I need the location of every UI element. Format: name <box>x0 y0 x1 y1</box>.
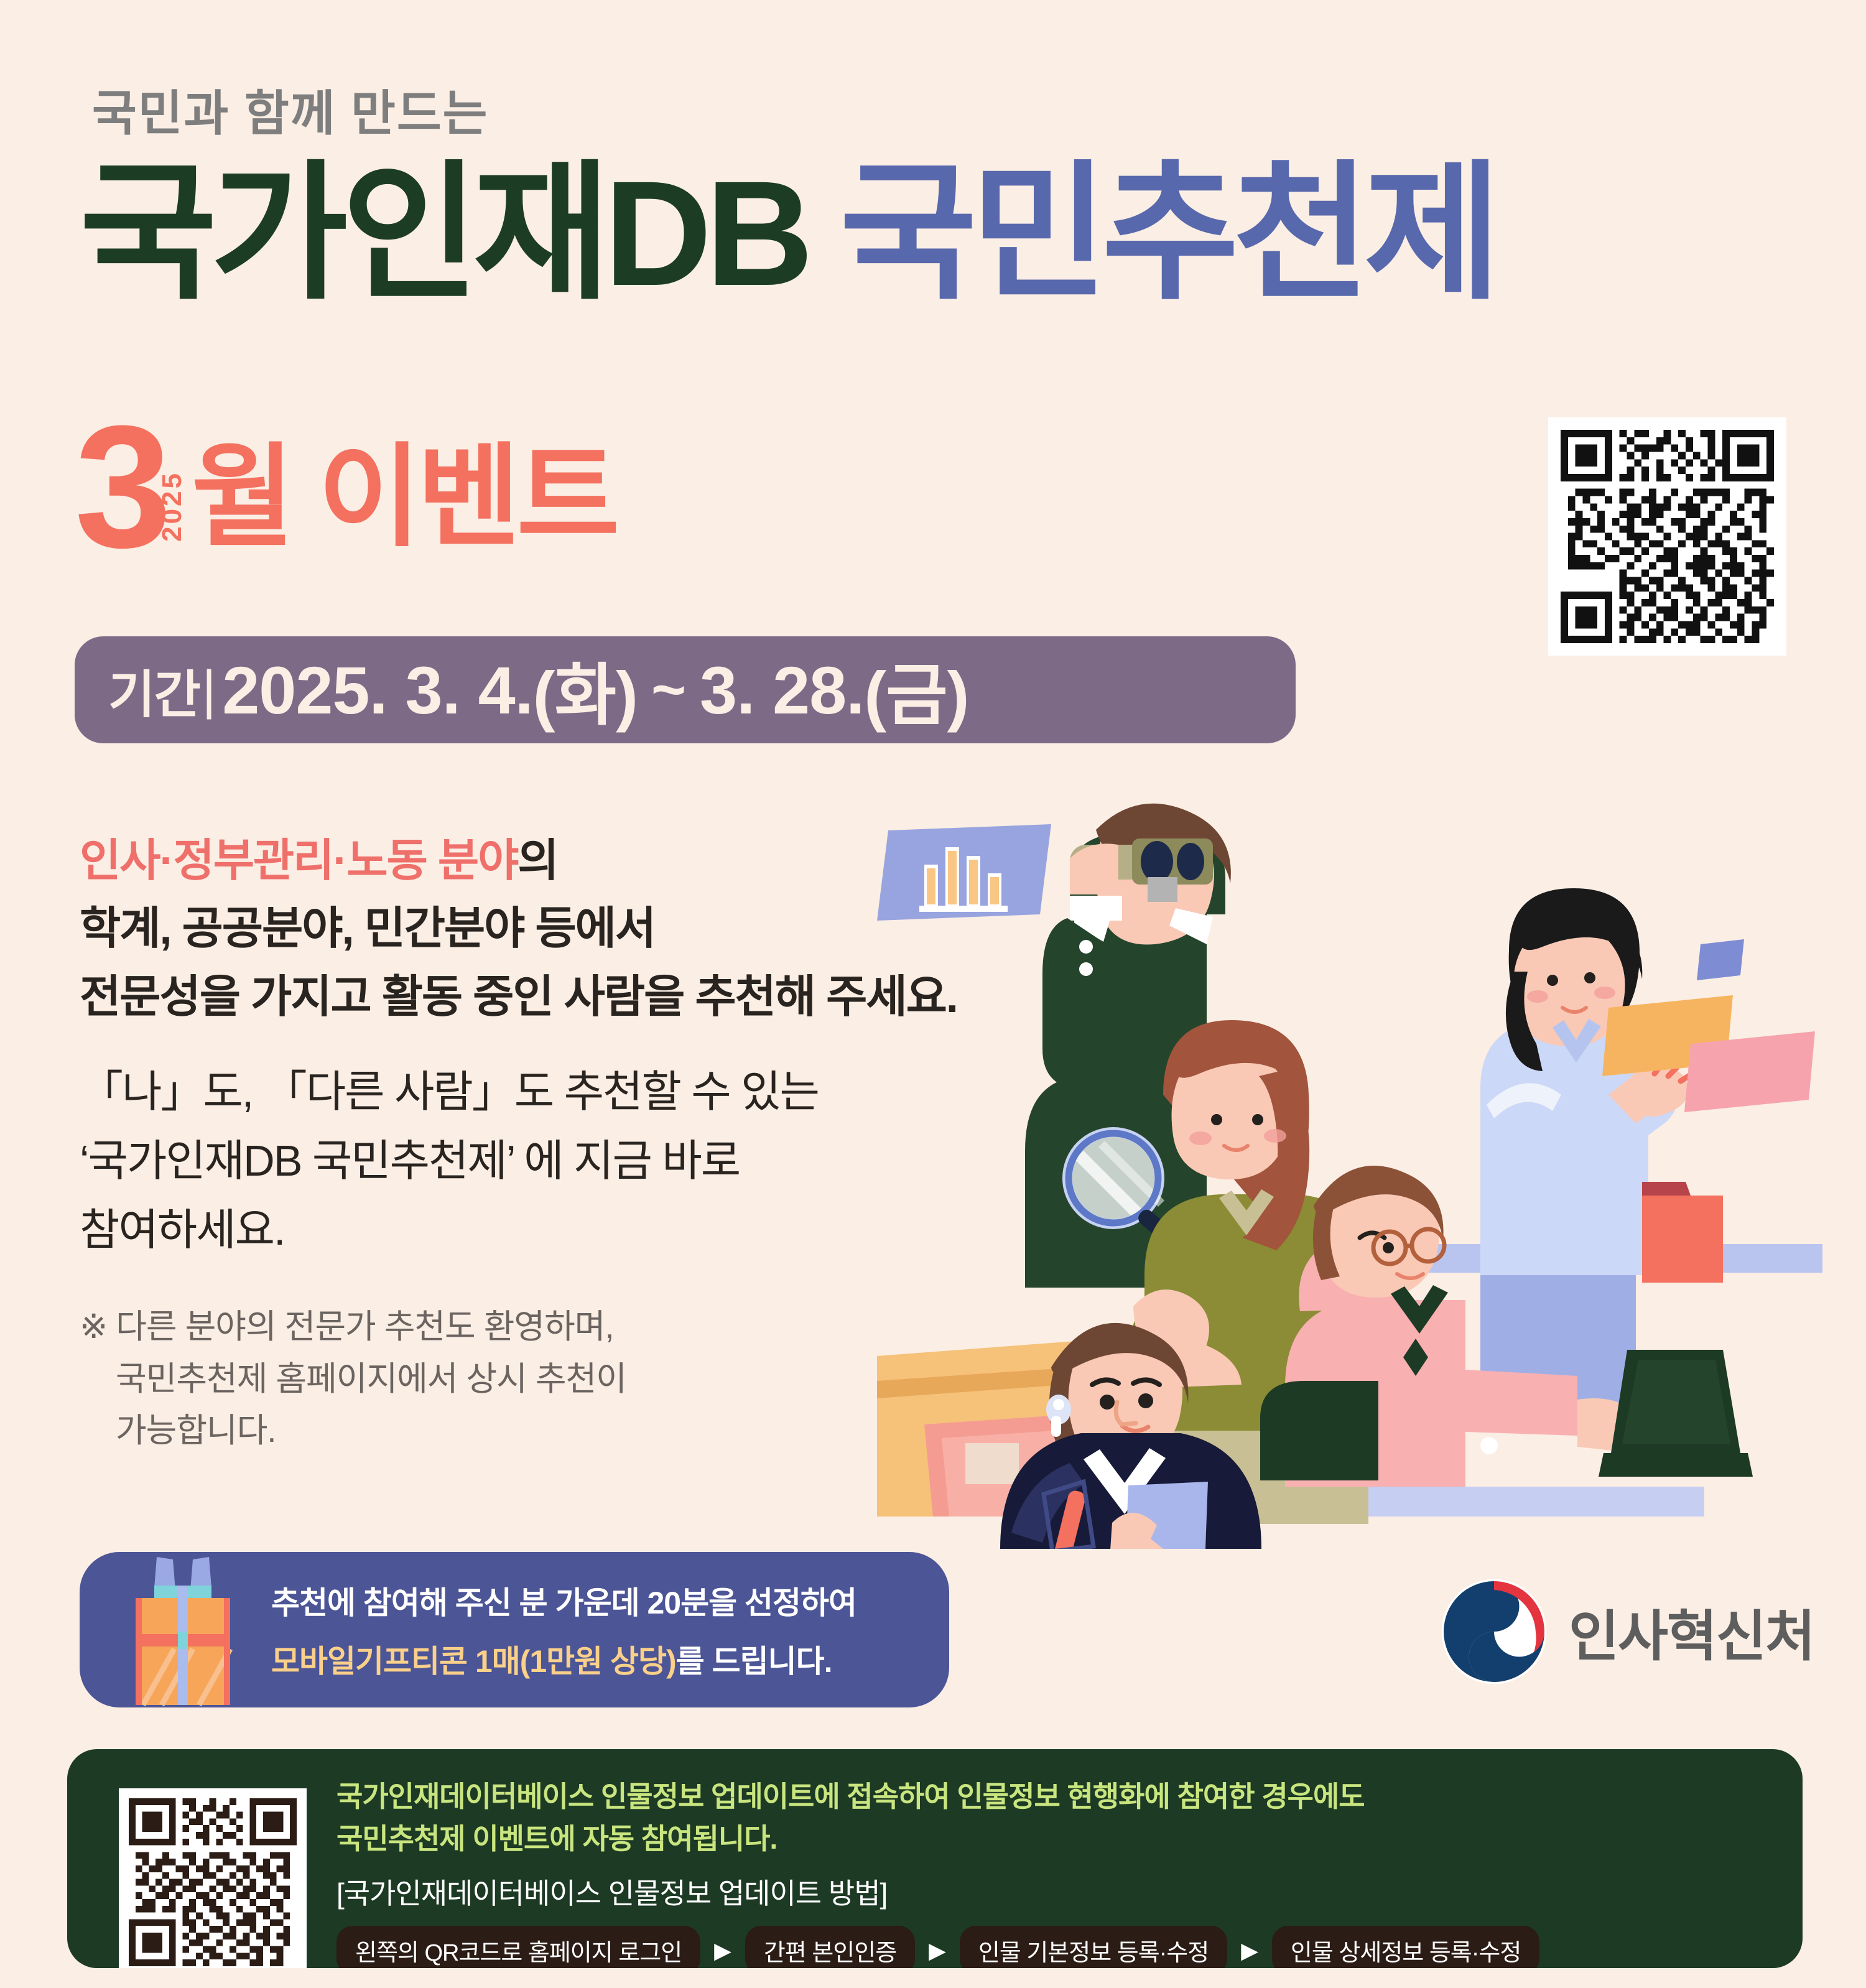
bar-chart-card-icon <box>877 824 1051 921</box>
bottom-copy: 국가인재데이터베이스 인물정보 업데이트에 접속하여 인물정보 현행화에 참여한… <box>337 1775 1539 1968</box>
lead-line-1: 인사·정부관리·노동 분야의 <box>80 827 888 895</box>
para2-line-3: 참여하세요. <box>80 1196 888 1265</box>
step-pill-1[interactable]: 왼쪽의 QR코드로 홈페이지 로그인 <box>337 1926 700 1968</box>
gift-box-icon <box>127 1552 251 1707</box>
body-copy: 인사·정부관리·노동 분야의 학계, 공공분야, 민간분야 등에서 전문성을 가… <box>80 827 888 1457</box>
gift-tail: 를 드립니다. <box>676 1644 832 1679</box>
qr-code-icon <box>1561 430 1774 643</box>
qr-code-top[interactable] <box>1548 417 1786 656</box>
update-steps: 왼쪽의 QR코드로 홈페이지 로그인 ▶ 간편 본인인증 ▶ 인물 기본정보 등… <box>337 1926 1539 1968</box>
period-label: 기간 <box>108 653 200 727</box>
period-end-dayofweek: (금) <box>864 641 968 738</box>
note-line-1: ※ 다른 분야의 전문가 추천도 환영하며, <box>80 1301 888 1354</box>
kicker-text: 국민과 함께 만드는 <box>92 75 488 144</box>
title-part-nationaldb: 국가인재DB <box>80 159 807 308</box>
bottom-subheading: [국가인재데이터베이스 인물정보 업데이트 방법] <box>337 1871 1539 1912</box>
ministry-name: 인사혁신처 <box>1569 1592 1814 1671</box>
month-number: 3 <box>75 411 167 564</box>
page-title: 국가인재DB 국민추천제 <box>80 159 1495 308</box>
chevron-right-icon-1: ▶ <box>714 1939 731 1962</box>
illustration-svg <box>865 802 1822 1549</box>
month-event-label: 월 이벤트 <box>192 442 616 554</box>
period-range-tilde: ~ <box>651 656 686 724</box>
note-line-3: 가능합니다. <box>80 1405 888 1457</box>
period-badge: 기간 | 2025. 3. 4. (화) ~ 3. 28. (금) <box>75 636 1296 743</box>
period-start-date: 2025. 3. 4. <box>222 651 532 729</box>
bottom-info-panel: 국가인재데이터베이스 인물정보 업데이트에 접속하여 인물정보 현행화에 참여한… <box>67 1749 1803 1968</box>
korea-government-taegeuk-icon <box>1439 1577 1549 1686</box>
period-separator: | <box>202 659 216 721</box>
lead-highlight: 인사·정부관리·노동 분야 <box>80 836 518 886</box>
month-event-heading: 3 2025 월 이벤트 <box>75 411 616 564</box>
para2-line-1: 「나」도, 「다른 사람」도 추천할 수 있는 <box>80 1057 888 1126</box>
qr-code-icon <box>129 1798 297 1966</box>
chevron-right-icon-2: ▶ <box>929 1939 946 1962</box>
period-start-dayofweek: (화) <box>533 641 638 738</box>
para2-line-2: ‘국가인재DB 국민추천제’ 에 지금 바로 <box>80 1126 888 1196</box>
period-end-date: 3. 28. <box>700 651 864 729</box>
title-part-public-recommendation: 국민추천제 <box>840 159 1495 308</box>
gift-line-1: 추천에 참여해 주신 분 가운데 20분을 선정하여 <box>271 1578 856 1623</box>
woman-posting-notes-figure <box>1480 888 1723 1406</box>
chevron-right-icon-3: ▶ <box>1241 1939 1258 1962</box>
paragraph-participate: 「나」도, 「다른 사람」도 추천할 수 있는 ‘국가인재DB 국민추천제’ 에… <box>80 1057 888 1264</box>
bottom-headline-2: 국민추천제 이벤트에 자동 참여됩니다. <box>337 1818 1539 1860</box>
step-pill-2[interactable]: 간편 본인인증 <box>745 1926 915 1968</box>
gift-banner: 추천에 참여해 주신 분 가운데 20분을 선정하여 모바일기프티콘 1매(1만… <box>80 1552 949 1707</box>
poster-root: 국민과 함께 만드는 국가인재DB 국민추천제 3 2025 월 이벤트 기간 … <box>0 0 1866 1988</box>
step-pill-3[interactable]: 인물 기본정보 등록·수정 <box>960 1926 1227 1968</box>
gift-line-2: 모바일기프티콘 1매(1만원 상당)를 드립니다. <box>271 1637 856 1681</box>
qr-code-bottom[interactable] <box>119 1788 307 1968</box>
office-workers-illustration <box>865 802 1822 1549</box>
bottom-headline-1: 국가인재데이터베이스 인물정보 업데이트에 접속하여 인물정보 현행화에 참여한… <box>337 1775 1539 1818</box>
lead-line-2: 학계, 공공분야, 민간분야 등에서 <box>80 895 888 963</box>
gift-emphasis: 모바일기프티콘 1매(1만원 상당) <box>271 1644 676 1679</box>
month-year: 2025 <box>157 471 188 542</box>
footnote-block: ※ 다른 분야의 전문가 추천도 환영하며, 국민추천제 홈페이지에서 상시 추… <box>80 1301 888 1457</box>
ministry-logo: 인사혁신처 <box>1439 1577 1814 1686</box>
lead-tail: 의 <box>518 836 557 886</box>
lead-line-3: 전문성을 가지고 활동 중인 사람을 추천해 주세요. <box>80 964 888 1031</box>
step-pill-4[interactable]: 인물 상세정보 등록·수정 <box>1272 1926 1539 1968</box>
note-line-2: 국민추천제 홈페이지에서 상시 추천이 <box>80 1354 888 1406</box>
